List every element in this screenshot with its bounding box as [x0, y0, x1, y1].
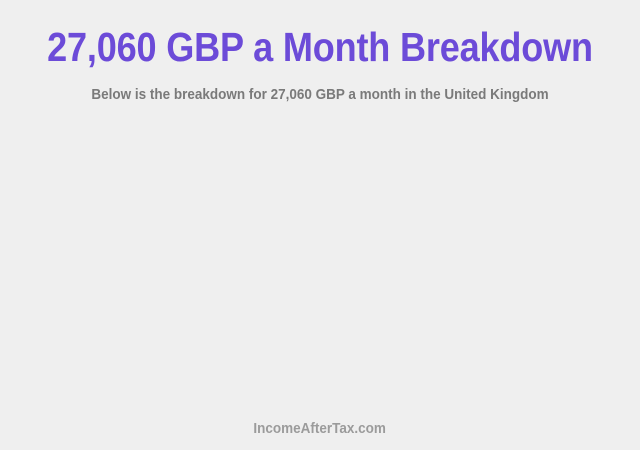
page-root: 27,060 GBP a Month Breakdown Below is th… — [0, 0, 640, 450]
main-content-area — [0, 115, 640, 410]
page-subtitle: Below is the breakdown for 27,060 GBP a … — [32, 85, 608, 105]
footer-brand-label: IncomeAfterTax.com — [254, 420, 387, 438]
page-footer: IncomeAfterTax.com — [0, 420, 640, 438]
page-title: 27,060 GBP a Month Breakdown — [38, 22, 601, 72]
